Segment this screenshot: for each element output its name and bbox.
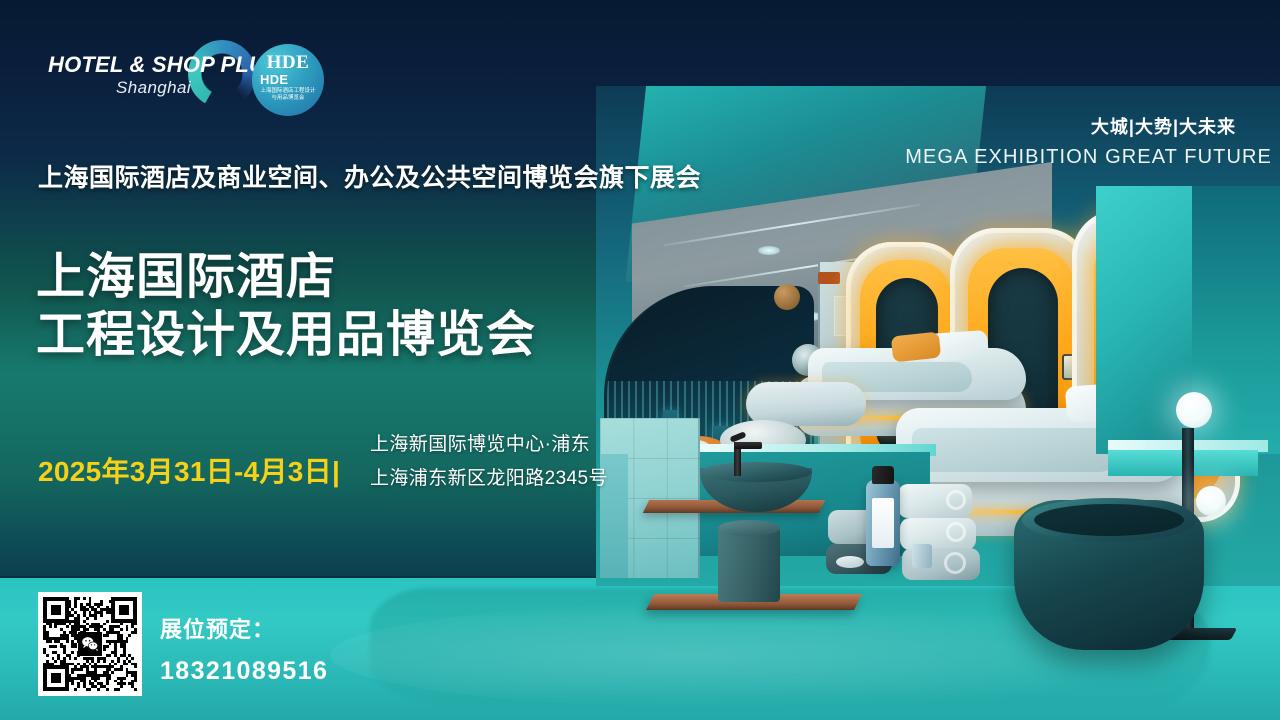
qr-finder-top-left	[43, 597, 69, 623]
venue-line-1: 上海新国际博览中心·浦东	[370, 428, 608, 462]
vessel-sink-rim	[700, 462, 812, 482]
towel-roll-spiral	[946, 522, 966, 542]
exhibition-promo-poster: HOTEL & SHOP PLUS Shanghai HDE HDE 上海国际酒…	[0, 0, 1280, 720]
slogan-english: MEGA EXHIBITION GREAT FUTURE	[905, 146, 1272, 169]
booking-label: 展位预定：	[160, 612, 275, 644]
hde-sans-mark: HDE	[260, 72, 288, 87]
booking-phone[interactable]: 18321089516	[160, 657, 328, 686]
hde-badge[interactable]: HDE HDE 上海国际酒店工程设计 与用品博览会	[252, 44, 324, 116]
slogan-chinese: 大城|大势|大未来	[1091, 113, 1236, 139]
title-line-2: 工程设计及用品博览会	[36, 306, 536, 364]
amenity-bottle-label	[872, 498, 894, 548]
ceiling-downlight	[758, 246, 780, 255]
qr-finder-bottom-left	[43, 665, 69, 691]
brand-city: Shanghai	[116, 78, 191, 98]
wall-decor-disc	[774, 284, 800, 310]
hde-chinese-line-1: 上海国际酒店工程设计	[252, 88, 324, 95]
hde-chinese-line-2: 与用品博览会	[252, 95, 324, 102]
qr-finder-top-right	[111, 597, 137, 623]
page-title: 上海国际酒店 工程设计及用品博览会	[36, 248, 536, 364]
amenity-bottle-cap	[872, 466, 894, 484]
brand-name: HOTEL & SHOP PLUS	[48, 52, 280, 78]
bathtub-basin	[1034, 504, 1184, 536]
accent-pillow	[891, 332, 941, 363]
lamp-globe-upper	[1176, 392, 1212, 428]
amenity-jar	[912, 544, 932, 568]
wechat-qr-code-icon[interactable]	[38, 592, 142, 696]
towel-roll-spiral	[946, 490, 966, 510]
venue-line-2: 上海浦东新区龙阳路2345号	[370, 462, 608, 496]
title-line-1: 上海国际酒店	[36, 248, 536, 306]
event-venue: 上海新国际博览中心·浦东 上海浦东新区龙阳路2345号	[370, 428, 608, 496]
towel-roll-spiral	[944, 552, 966, 574]
wechat-icon	[78, 632, 102, 656]
event-date: 2025年3月31日-4月3日|	[38, 450, 340, 490]
hde-serif-mark: HDE	[267, 52, 310, 74]
sink-pedestal	[718, 526, 780, 602]
bed-blanket	[912, 428, 1118, 472]
sub-headline: 上海国际酒店及商业空间、办公及公共空间博览会旗下展会	[38, 158, 701, 194]
exit-sign	[818, 272, 840, 284]
lamp-globe-lower	[1196, 486, 1226, 516]
soap-bar	[836, 556, 864, 568]
sink-pedestal-top	[718, 520, 780, 536]
faucet-spout	[734, 442, 762, 449]
